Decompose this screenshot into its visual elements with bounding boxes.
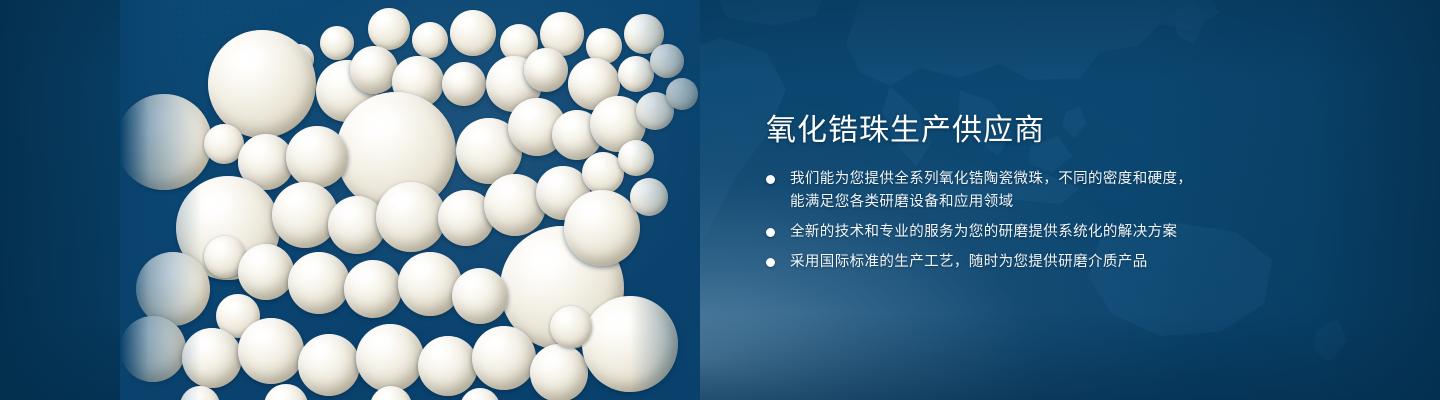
bullet-line: 采用国际标准的生产工艺，随时为您提供研磨介质产品: [790, 251, 1192, 274]
banner-feature-list: 我们能为您提供全系列氧化锆陶瓷微珠，不同的密度和硬度， 能满足您各类研磨设备和应…: [766, 168, 1192, 274]
bullet-dot-icon: [766, 175, 775, 184]
list-item: 采用国际标准的生产工艺，随时为您提供研磨介质产品: [766, 251, 1192, 274]
bullet-dot-icon: [766, 228, 775, 237]
list-item: 全新的技术和专业的服务为您的研磨提供系统化的解决方案: [766, 221, 1192, 244]
hero-banner: 氧化锆珠生产供应商 我们能为您提供全系列氧化锆陶瓷微珠，不同的密度和硬度， 能满…: [0, 0, 1440, 400]
bullet-line: 我们能为您提供全系列氧化锆陶瓷微珠，不同的密度和硬度，: [790, 168, 1192, 191]
bullet-dot-icon: [766, 258, 775, 267]
bead-cluster: [120, 0, 700, 400]
list-item: 我们能为您提供全系列氧化锆陶瓷微珠，不同的密度和硬度， 能满足您各类研磨设备和应…: [766, 168, 1192, 214]
banner-headline: 氧化锆珠生产供应商: [766, 112, 1045, 150]
zirconia-beads-photo: [120, 0, 700, 400]
bullet-line: 能满足您各类研磨设备和应用领域: [790, 191, 1192, 214]
banner-copy: 氧化锆珠生产供应商 我们能为您提供全系列氧化锆陶瓷微珠，不同的密度和硬度， 能满…: [766, 0, 1366, 400]
bullet-line: 全新的技术和专业的服务为您的研磨提供系统化的解决方案: [790, 221, 1192, 244]
